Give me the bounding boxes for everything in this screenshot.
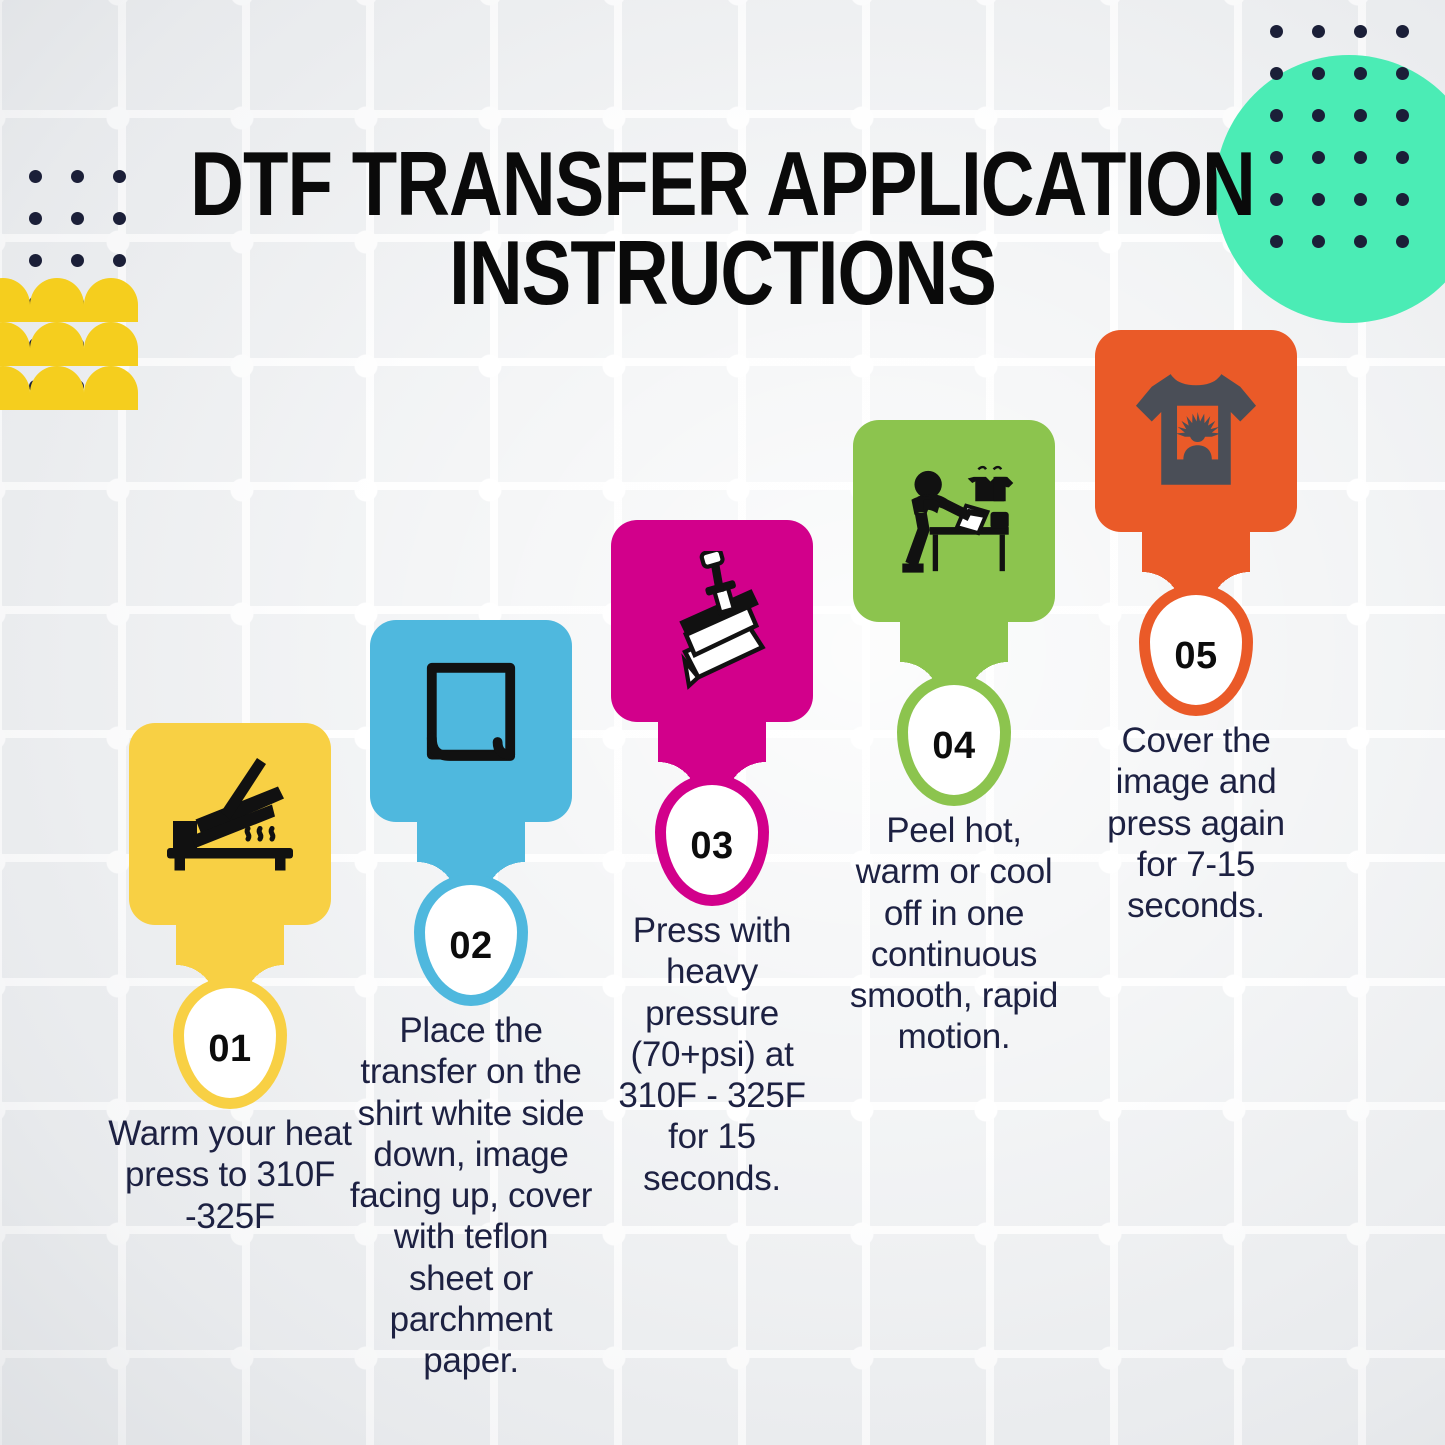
heat-press-machine-icon — [642, 551, 782, 691]
step-03-description: Press with heavy pressure (70+psi) at 31… — [599, 910, 825, 1199]
step-05-icon-card — [1095, 330, 1297, 532]
step-02-number-badge: 02 — [414, 874, 528, 1006]
step-01-number: 01 — [208, 1028, 251, 1071]
step-04-number-badge: 04 — [897, 674, 1011, 806]
step-01-number-badge: 01 — [173, 977, 287, 1109]
step-02-icon-card — [370, 620, 572, 822]
step-05-connector: 05 — [1078, 526, 1314, 716]
step-03-connector: 03 — [594, 716, 830, 906]
step-05-number: 05 — [1174, 635, 1217, 678]
step-card-02: 02 Place the transfer on the shirt white… — [353, 620, 589, 1382]
step-01-description: Warm your heat press to 310F -325F — [107, 1113, 353, 1237]
transfer-sheet-icon — [401, 651, 541, 791]
step-02-connector: 02 — [353, 816, 589, 1006]
step-02-description: Place the transfer on the shirt white si… — [348, 1010, 594, 1382]
steps-container: 01 Warm your heat press to 310F -325F 02 — [0, 0, 1445, 1445]
person-peeling-transfer-icon — [878, 445, 1030, 597]
step-card-04: 04 Peel hot, warm or cool off in one con… — [836, 420, 1072, 1058]
step-03-icon-card — [611, 520, 813, 722]
heat-press-open-icon — [155, 749, 305, 899]
step-05-number-badge: 05 — [1139, 584, 1253, 716]
step-01-icon-card — [129, 723, 331, 925]
step-02-number: 02 — [449, 925, 492, 968]
step-04-connector: 04 — [836, 616, 1072, 806]
step-04-icon-card — [853, 420, 1055, 622]
step-01-connector: 01 — [112, 919, 348, 1109]
step-card-05: 05 Cover the image and press again for 7… — [1078, 330, 1314, 926]
step-04-number: 04 — [932, 725, 975, 768]
step-card-01: 01 Warm your heat press to 310F -325F — [112, 723, 348, 1237]
step-card-03: 03 Press with heavy pressure (70+psi) at… — [594, 520, 830, 1199]
step-03-number-badge: 03 — [655, 774, 769, 906]
step-03-number: 03 — [690, 825, 733, 868]
step-05-description: Cover the image and press again for 7-15… — [1083, 720, 1309, 926]
printed-tshirt-icon — [1117, 352, 1275, 510]
step-04-description: Peel hot, warm or cool off in one contin… — [841, 810, 1067, 1058]
